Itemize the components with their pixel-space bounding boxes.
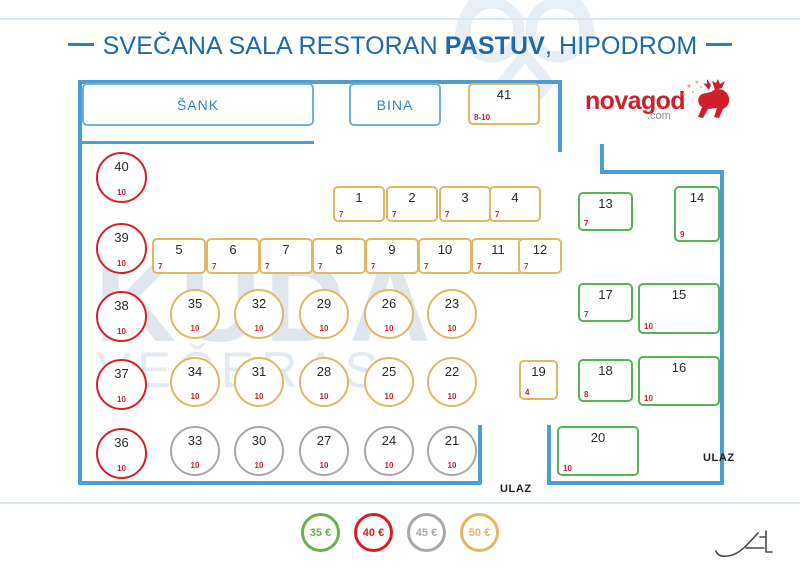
table-39[interactable]: 3910 xyxy=(96,223,147,274)
table-seats: 10 xyxy=(366,324,412,333)
table-seats: 10 xyxy=(301,461,347,470)
table-seats: 9 xyxy=(680,230,684,239)
table-5[interactable]: 57 xyxy=(152,238,206,274)
table-number: 17 xyxy=(580,287,631,302)
table-number: 29 xyxy=(301,296,347,311)
table-41[interactable]: 418-10 xyxy=(468,83,540,125)
wall-bottom-left xyxy=(78,481,481,485)
table-4[interactable]: 47 xyxy=(489,186,541,222)
table-seats: 10 xyxy=(644,394,653,403)
title-dash-right xyxy=(706,43,732,46)
legend-item-0[interactable]: 35 € xyxy=(301,513,340,552)
table-number: 23 xyxy=(429,296,475,311)
table-8[interactable]: 87 xyxy=(312,238,366,274)
table-number: 12 xyxy=(520,242,560,257)
title-text: SVEČANA SALA RESTORAN PASTUV, HIPODROM xyxy=(103,32,698,61)
table-seats: 10 xyxy=(563,464,572,473)
table-18[interactable]: 188 xyxy=(578,359,633,402)
table-seats: 7 xyxy=(371,262,375,271)
table-19[interactable]: 194 xyxy=(519,360,558,400)
table-27[interactable]: 2710 xyxy=(299,426,349,476)
title-bold: PASTUV xyxy=(445,32,545,60)
table-seats: 7 xyxy=(392,210,396,219)
table-seats: 8-10 xyxy=(474,113,490,122)
table-number: 22 xyxy=(429,364,475,379)
page-title: SVEČANA SALA RESTORAN PASTUV, HIPODROM xyxy=(0,32,800,61)
table-number: 18 xyxy=(580,363,631,378)
table-seats: 7 xyxy=(158,262,162,271)
table-37[interactable]: 3710 xyxy=(96,359,147,410)
table-9[interactable]: 97 xyxy=(365,238,419,274)
table-seats: 10 xyxy=(98,259,145,268)
table-seats: 10 xyxy=(429,324,475,333)
table-number: 15 xyxy=(640,287,718,302)
table-number: 37 xyxy=(98,366,145,381)
bottom-divider-line xyxy=(0,502,800,504)
table-10[interactable]: 107 xyxy=(418,238,472,274)
table-3[interactable]: 37 xyxy=(439,186,491,222)
table-23[interactable]: 2310 xyxy=(427,289,477,339)
table-number: 6 xyxy=(208,242,258,257)
table-15[interactable]: 1510 xyxy=(638,283,720,334)
table-seats: 7 xyxy=(339,210,343,219)
signature-mark xyxy=(708,528,778,562)
table-seats: 10 xyxy=(429,392,475,401)
table-number: 36 xyxy=(98,435,145,450)
room-sank-label: ŠANK xyxy=(177,97,219,113)
reindeer-icon xyxy=(681,78,735,126)
table-seats: 10 xyxy=(301,392,347,401)
table-32[interactable]: 3210 xyxy=(234,289,284,339)
table-26[interactable]: 2610 xyxy=(364,289,414,339)
table-number: 34 xyxy=(172,364,218,379)
table-2[interactable]: 27 xyxy=(386,186,438,222)
table-29[interactable]: 2910 xyxy=(299,289,349,339)
ulaz-bottom-label: ULAZ xyxy=(500,483,532,495)
table-seats: 10 xyxy=(236,392,282,401)
table-6[interactable]: 67 xyxy=(206,238,260,274)
table-seats: 7 xyxy=(318,262,322,271)
wall-upper-right xyxy=(558,80,562,152)
table-13[interactable]: 137 xyxy=(578,192,633,231)
table-seats: 10 xyxy=(366,392,412,401)
ulaz-right-label: ULAZ xyxy=(703,452,735,464)
table-number: 20 xyxy=(559,430,637,445)
table-number: 19 xyxy=(521,364,556,379)
wall-bottom-left-stub xyxy=(478,425,482,484)
table-36[interactable]: 3610 xyxy=(96,428,147,479)
table-seats: 10 xyxy=(301,324,347,333)
table-seats: 7 xyxy=(212,262,216,271)
title-suffix: , HIPODROM xyxy=(545,32,697,60)
table-seats: 10 xyxy=(236,461,282,470)
table-seats: 7 xyxy=(584,219,588,228)
wall-bottom-right xyxy=(547,481,724,485)
table-seats: 10 xyxy=(98,188,145,197)
table-14[interactable]: 149 xyxy=(674,186,720,242)
table-seats: 10 xyxy=(98,395,145,404)
table-number: 27 xyxy=(301,433,347,448)
top-divider-line xyxy=(0,18,800,20)
table-16[interactable]: 1610 xyxy=(638,356,720,406)
table-25[interactable]: 2510 xyxy=(364,357,414,407)
table-number: 38 xyxy=(98,298,145,313)
table-number: 2 xyxy=(388,190,436,205)
table-seats: 10 xyxy=(172,461,218,470)
room-sank[interactable]: ŠANK xyxy=(82,83,314,126)
table-number: 11 xyxy=(473,242,523,257)
table-number: 40 xyxy=(98,159,145,174)
table-21[interactable]: 2110 xyxy=(427,426,477,476)
table-seats: 10 xyxy=(366,461,412,470)
title-dash-left xyxy=(68,43,94,46)
table-seats: 10 xyxy=(429,461,475,470)
watermark: KUDA VEČERAS xyxy=(95,250,565,450)
wall-bottom-right-stub xyxy=(547,425,551,484)
table-seats: 7 xyxy=(424,262,428,271)
table-seats: 7 xyxy=(477,262,481,271)
table-number: 13 xyxy=(580,196,631,211)
table-28[interactable]: 2810 xyxy=(299,357,349,407)
table-number: 5 xyxy=(154,242,204,257)
table-24[interactable]: 2410 xyxy=(364,426,414,476)
table-number: 1 xyxy=(335,190,383,205)
table-number: 16 xyxy=(640,360,718,375)
table-seats: 10 xyxy=(172,324,218,333)
table-seats: 7 xyxy=(524,262,528,271)
table-number: 10 xyxy=(420,242,470,257)
table-number: 8 xyxy=(314,242,364,257)
table-number: 24 xyxy=(366,433,412,448)
room-bina[interactable]: BINA xyxy=(349,83,441,126)
wall-step-horizontal xyxy=(600,170,724,174)
table-seats: 7 xyxy=(265,262,269,271)
table-seats: 7 xyxy=(495,210,499,219)
table-number: 28 xyxy=(301,364,347,379)
table-number: 31 xyxy=(236,364,282,379)
floor-plan-page: KUDA VEČERAS SVEČANA SALA RESTORAN PASTU… xyxy=(0,0,800,568)
table-33[interactable]: 3310 xyxy=(170,426,220,476)
table-seats: 7 xyxy=(445,210,449,219)
logo-tld: .com xyxy=(647,110,671,122)
table-seats: 10 xyxy=(236,324,282,333)
legend-item-2[interactable]: 45 € xyxy=(407,513,446,552)
table-35[interactable]: 3510 xyxy=(170,289,220,339)
table-seats: 8 xyxy=(584,390,588,399)
table-number: 9 xyxy=(367,242,417,257)
legend-item-3[interactable]: 50 € xyxy=(460,513,499,552)
table-30[interactable]: 3010 xyxy=(234,426,284,476)
table-number: 21 xyxy=(429,433,475,448)
table-number: 25 xyxy=(366,364,412,379)
novagod-logo[interactable]: novagod .com xyxy=(585,82,735,130)
legend-item-1[interactable]: 40 € xyxy=(354,513,393,552)
table-11[interactable]: 117 xyxy=(471,238,525,274)
table-number: 7 xyxy=(261,242,311,257)
table-seats: 10 xyxy=(98,327,145,336)
price-legend: 35 €40 €45 €50 € xyxy=(0,513,800,552)
room-bina-label: BINA xyxy=(377,97,414,113)
table-number: 14 xyxy=(676,190,718,205)
table-seats: 7 xyxy=(584,310,588,319)
wall-under-sank xyxy=(78,141,314,144)
table-number: 30 xyxy=(236,433,282,448)
table-38[interactable]: 3810 xyxy=(96,291,147,342)
wall-far-right xyxy=(720,170,724,484)
table-40[interactable]: 4010 xyxy=(96,152,147,203)
watermark-owl-icon xyxy=(430,0,620,155)
table-20[interactable]: 2010 xyxy=(557,426,639,476)
table-seats: 10 xyxy=(172,392,218,401)
table-number: 35 xyxy=(172,296,218,311)
table-number: 41 xyxy=(470,87,538,102)
table-seats: 4 xyxy=(525,388,529,397)
table-7[interactable]: 77 xyxy=(259,238,313,274)
table-number: 3 xyxy=(441,190,489,205)
table-34[interactable]: 3410 xyxy=(170,357,220,407)
table-12[interactable]: 127 xyxy=(518,238,562,274)
table-17[interactable]: 177 xyxy=(578,283,633,322)
table-31[interactable]: 3110 xyxy=(234,357,284,407)
table-number: 4 xyxy=(491,190,539,205)
table-1[interactable]: 17 xyxy=(333,186,385,222)
table-number: 32 xyxy=(236,296,282,311)
table-number: 26 xyxy=(366,296,412,311)
table-number: 39 xyxy=(98,230,145,245)
table-seats: 10 xyxy=(98,464,145,473)
table-22[interactable]: 2210 xyxy=(427,357,477,407)
title-prefix: SVEČANA SALA RESTORAN xyxy=(103,32,445,60)
table-seats: 10 xyxy=(644,322,653,331)
table-number: 33 xyxy=(172,433,218,448)
